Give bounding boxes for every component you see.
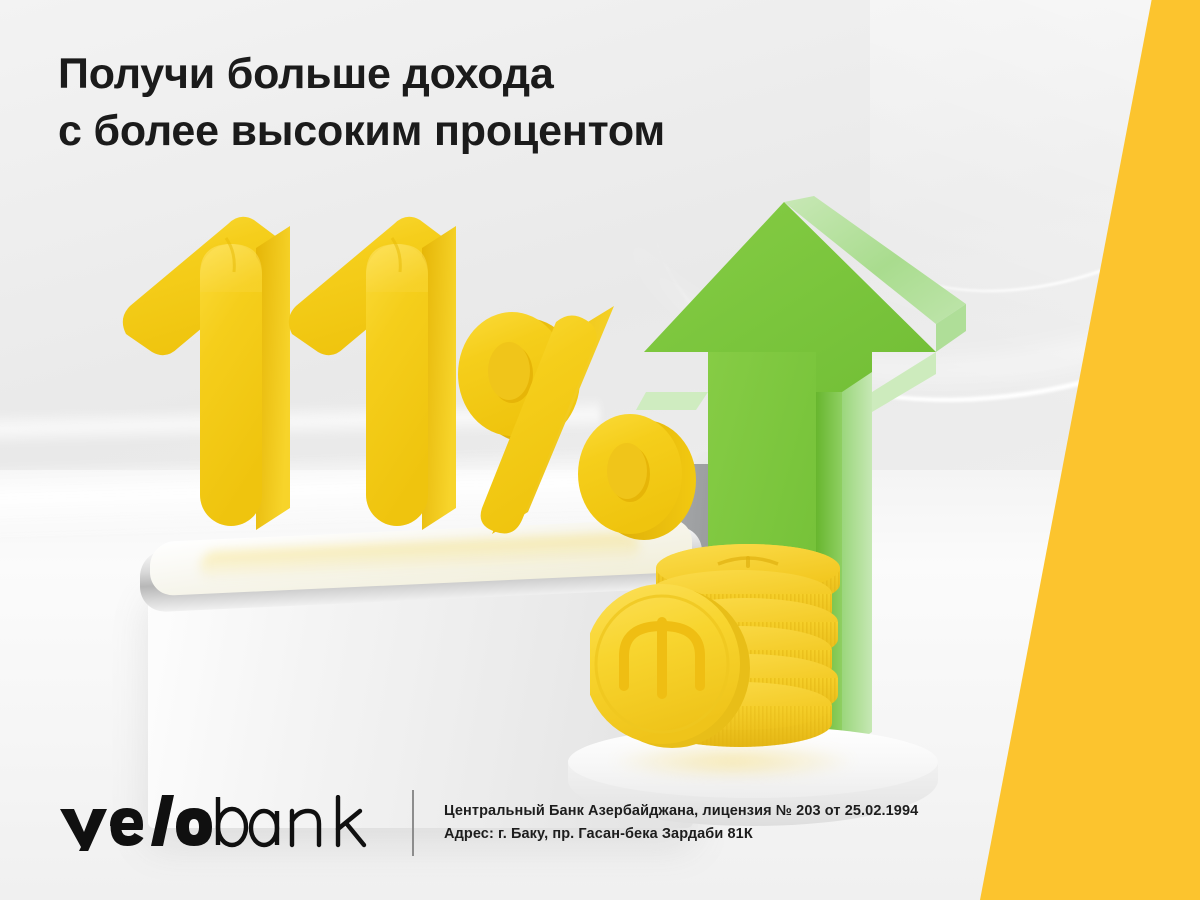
yelobank-logo[interactable] xyxy=(58,795,382,851)
rate-display xyxy=(108,182,708,562)
promo-banner: Получи больше дохода с более высоким про… xyxy=(0,0,1200,900)
hero-illustration xyxy=(0,0,1200,900)
footer: Центральный Банк Азербайджана, лицензия … xyxy=(58,790,918,856)
footer-divider xyxy=(412,790,414,856)
legal-text: Центральный Банк Азербайджана, лицензия … xyxy=(444,800,918,847)
coin-stack-icon xyxy=(590,534,880,764)
